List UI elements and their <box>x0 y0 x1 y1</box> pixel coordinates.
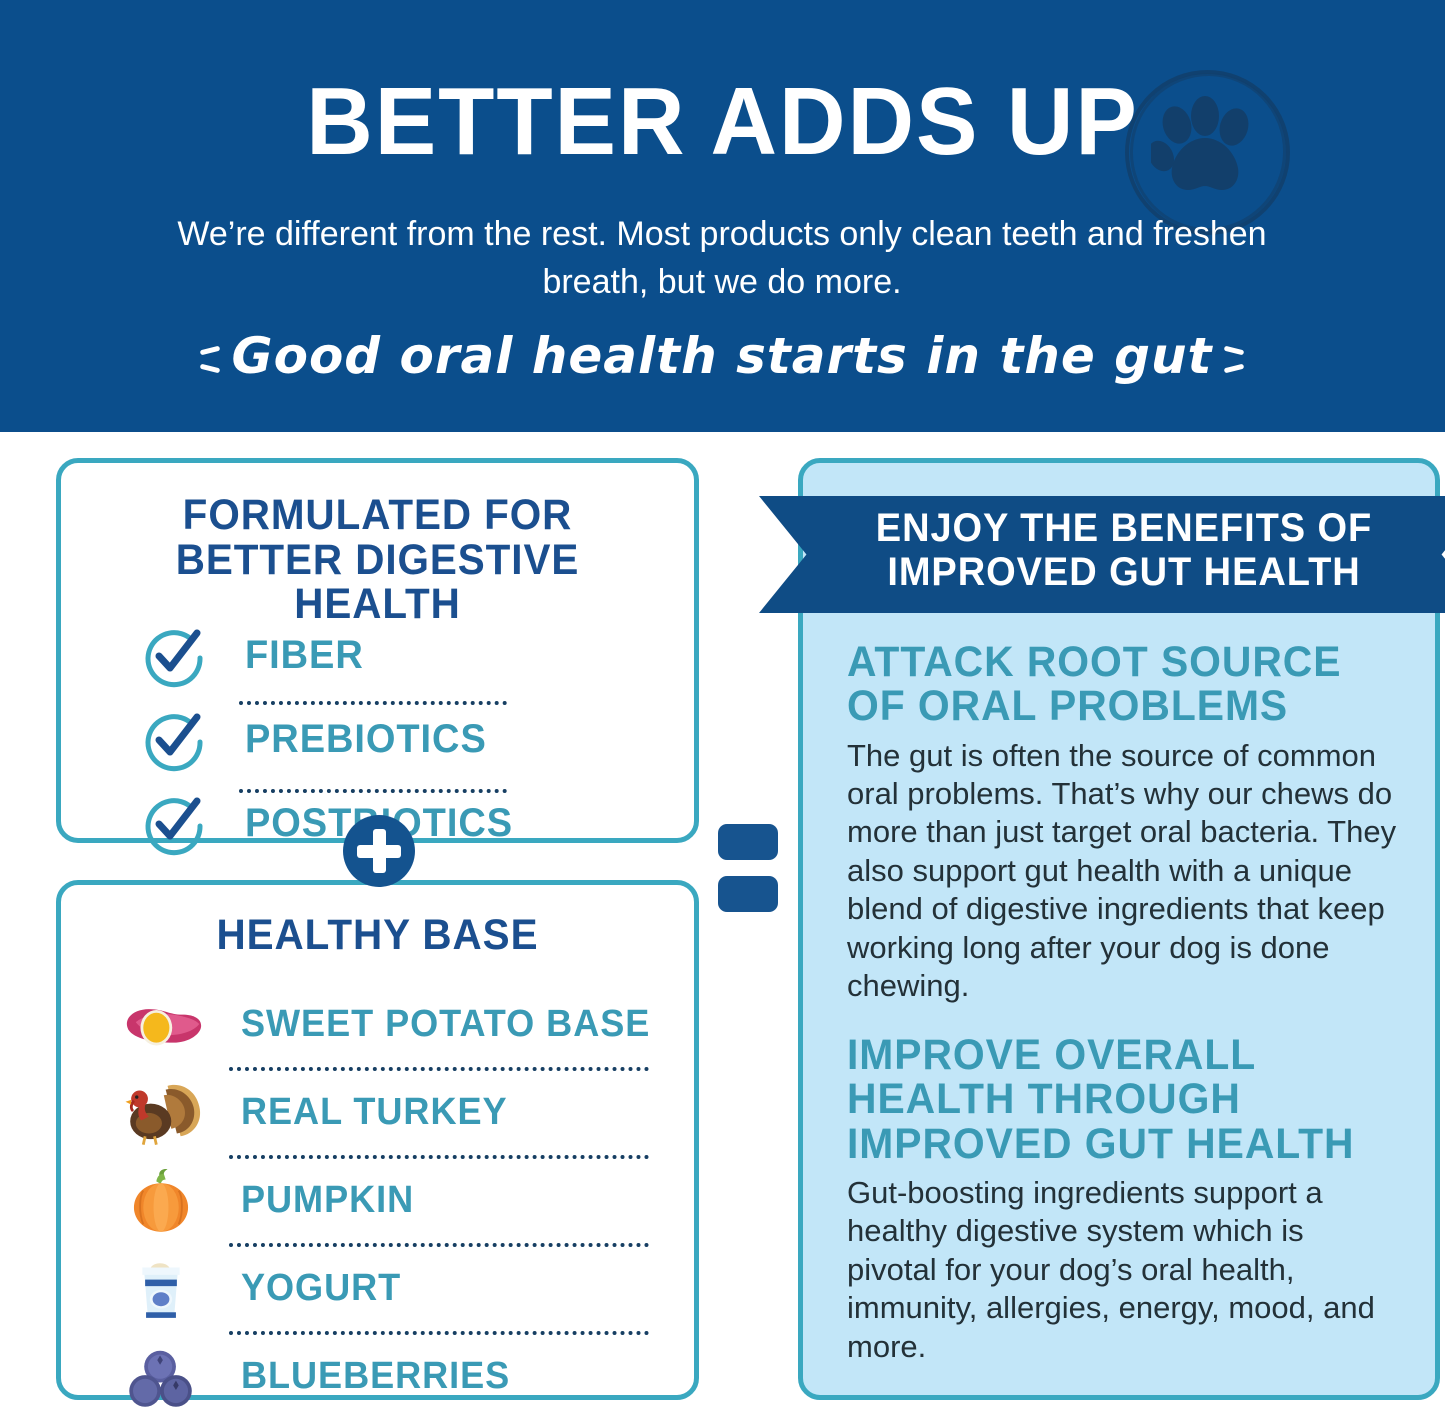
turkey-icon <box>119 1072 203 1152</box>
list-item-label: PUMPKIN <box>241 1179 414 1222</box>
benefits-section: ATTACK ROOT SOURCE OF ORAL PROBLEMS The … <box>847 640 1399 1006</box>
header-banner: BETTER ADDS UP We’re different from the … <box>0 0 1445 432</box>
list-divider <box>229 1239 649 1247</box>
pumpkin-icon <box>119 1160 203 1240</box>
list-divider <box>239 785 507 793</box>
list-divider <box>229 1151 649 1159</box>
yogurt-cup-icon <box>119 1248 203 1328</box>
formulated-card-title: FORMULATED FOR BETTER DIGESTIVE HEALTH <box>80 493 675 627</box>
list-item-label: YOGURT <box>241 1267 401 1310</box>
tagline-text: Good oral health starts in the gut <box>232 327 1213 385</box>
equals-icon <box>718 824 778 920</box>
list-divider <box>229 1327 649 1335</box>
tagline-dash-left-icon <box>200 345 222 375</box>
list-item: BLUEBERRIES <box>61 1332 694 1420</box>
benefits-ribbon-title: ENJOY THE BENEFITS OF IMPROVED GUT HEALT… <box>777 506 1445 594</box>
list-item: PREBIOTICS <box>61 697 694 781</box>
benefits-section-body: Gut-boosting ingredients support a healt… <box>847 1174 1399 1366</box>
paw-glyph-icon <box>1151 94 1259 204</box>
plus-icon <box>343 815 415 887</box>
list-divider <box>239 697 507 705</box>
list-item-label: PREBIOTICS <box>245 717 487 762</box>
list-item: FIBER <box>61 613 694 697</box>
formulated-card: FORMULATED FOR BETTER DIGESTIVE HEALTH F… <box>56 458 699 843</box>
check-circle-icon <box>141 790 207 856</box>
benefits-section-heading: ATTACK ROOT SOURCE OF ORAL PROBLEMS <box>847 640 1371 729</box>
list-item-label: BLUEBERRIES <box>241 1355 510 1398</box>
check-circle-icon <box>141 706 207 772</box>
content-board: FORMULATED FOR BETTER DIGESTIVE HEALTH F… <box>0 432 1445 1410</box>
benefits-section-heading: IMPROVE OVERALL HEALTH THROUGH IMPROVED … <box>847 1033 1371 1166</box>
tagline-dash-right-icon <box>1222 345 1244 375</box>
list-item-label: FIBER <box>245 633 364 678</box>
healthy-base-card-title: HEALTHY BASE <box>80 913 675 958</box>
check-circle-icon <box>141 622 207 688</box>
header-tagline: Good oral health starts in the gut <box>172 327 1272 385</box>
healthy-base-card: HEALTHY BASE SWEET POTATO BASE <box>56 880 699 1400</box>
ingredient-list: SWEET POTATO BASE REAL TURKEY <box>61 980 694 1420</box>
list-item: YOGURT <box>61 1244 694 1332</box>
sweet-potato-icon <box>119 984 203 1064</box>
benefits-section: IMPROVE OVERALL HEALTH THROUGH IMPROVED … <box>847 1033 1399 1366</box>
list-item: REAL TURKEY <box>61 1068 694 1156</box>
benefits-card: ENJOY THE BENEFITS OF IMPROVED GUT HEALT… <box>798 458 1440 1400</box>
header-subtitle: We’re different from the rest. Most prod… <box>172 210 1272 307</box>
list-item: PUMPKIN <box>61 1156 694 1244</box>
benefits-section-body: The gut is often the source of common or… <box>847 737 1399 1006</box>
list-item: SWEET POTATO BASE <box>61 980 694 1068</box>
benefits-ribbon: ENJOY THE BENEFITS OF IMPROVED GUT HEALT… <box>759 496 1445 613</box>
list-item-label: REAL TURKEY <box>241 1091 508 1134</box>
list-divider <box>229 1063 649 1071</box>
blueberries-icon <box>119 1336 203 1416</box>
list-item-label: SWEET POTATO BASE <box>241 1003 650 1046</box>
